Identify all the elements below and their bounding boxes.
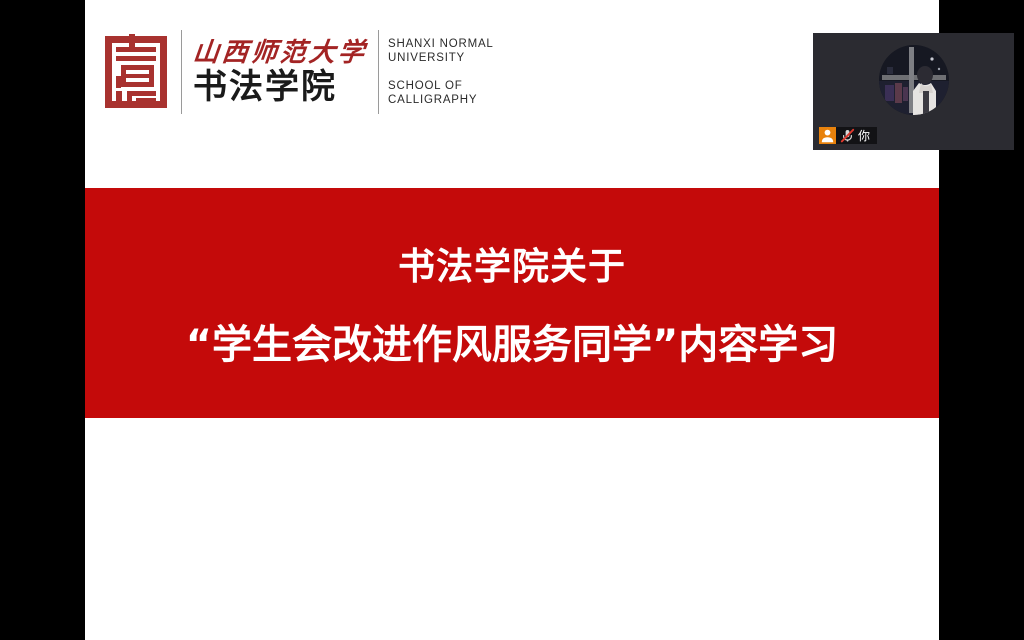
- logo-english-wordmark: SHANXI NORMAL UNIVERSITY SCHOOL OF CALLI…: [388, 37, 494, 108]
- slide-title-line-1: 书法学院关于: [398, 236, 626, 290]
- logo-english-university: SHANXI NORMAL UNIVERSITY: [388, 37, 494, 66]
- logo-english-school-line2: CALLIGRAPHY: [388, 94, 477, 106]
- logo-english-school: SCHOOL OF CALLIGRAPHY: [388, 79, 494, 108]
- logo-chinese-school-name: 书法学院: [193, 70, 367, 104]
- logo-chinese-wordmark: 山西师范大学 书法学院: [193, 40, 367, 104]
- shared-slide: 山西师范大学 书法学院 SHANXI NORMAL UNIVERSITY SCH…: [85, 0, 939, 640]
- logo-english-school-line1: SCHOOL OF: [388, 80, 463, 92]
- slide-title-banner: 书法学院关于 “学生会改进作风服务同学”内容学习: [85, 188, 939, 418]
- logo-english-university-line1: SHANXI NORMAL: [388, 38, 494, 50]
- slide-title-line-2: “学生会改进作风服务同学”内容学习: [186, 312, 839, 370]
- person-icon: [819, 127, 836, 144]
- university-logo-lockup: 山西师范大学 书法学院 SHANXI NORMAL UNIVERSITY SCH…: [103, 26, 494, 118]
- logo-divider-left: [181, 30, 182, 114]
- participant-nameplate: 你: [819, 127, 877, 144]
- participant-video-tile[interactable]: 你: [813, 33, 1014, 150]
- logo-chinese-university-name: 山西师范大学: [192, 40, 369, 66]
- screen-share-stage: 山西师范大学 书法学院 SHANXI NORMAL UNIVERSITY SCH…: [0, 0, 1024, 640]
- participant-name-label: 你: [858, 130, 870, 142]
- logo-english-university-line2: UNIVERSITY: [388, 52, 465, 64]
- university-seal-emblem-icon: [103, 34, 169, 110]
- logo-divider-right: [378, 30, 379, 114]
- microphone-muted-icon: [840, 128, 855, 143]
- participant-avatar: [879, 45, 949, 115]
